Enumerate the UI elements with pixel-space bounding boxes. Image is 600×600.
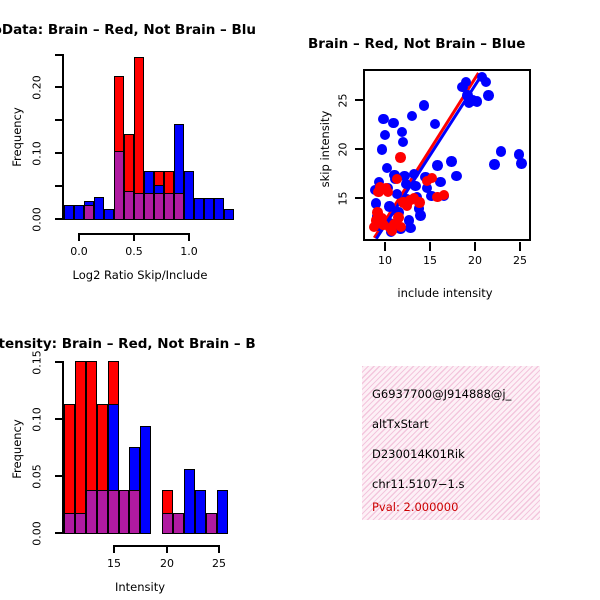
annotation-line-pval: Pval: 2.000000 (372, 500, 540, 514)
bar-not-brain (64, 205, 74, 220)
scatter-point-not-brain (419, 100, 429, 110)
scatter-point-not-brain (483, 90, 493, 100)
bar-not-brain (94, 197, 104, 220)
bar-not-brain (195, 490, 206, 534)
y-tick-label: 0.15 (31, 346, 44, 380)
scatter-ylabel: skip intensity (318, 109, 332, 189)
y-tick (55, 54, 63, 56)
bar-not-brain (184, 171, 194, 220)
bar-not-brain (204, 198, 214, 220)
y-tick-label: 0.20 (31, 71, 44, 105)
y-tick-label: 15 (337, 188, 350, 210)
annotation-line-gene-symbol: D230014K01Rik (372, 447, 540, 461)
bar-overlap (64, 513, 75, 534)
scatter-point-not-brain (380, 130, 390, 140)
x-tick (133, 233, 135, 241)
x-tick-label: 10 (372, 254, 398, 267)
scatter-title: Brain – Red, Not Brain – Blue (308, 36, 525, 52)
y-tick-label: 0.05 (31, 460, 44, 494)
y-tick (55, 86, 63, 88)
x-tick (113, 545, 115, 553)
bar-overlap (129, 490, 140, 534)
scatter-point-not-brain (472, 96, 482, 106)
x-tick (429, 242, 431, 251)
scatter-xlabel: include intensity (355, 286, 535, 300)
y-tick-label: 0.10 (31, 137, 44, 171)
y-tick (55, 152, 63, 154)
y-tick (55, 532, 63, 534)
bar-not-brain (217, 490, 228, 534)
x-tick-label: 1.0 (176, 245, 202, 258)
x-tick-label: 20 (462, 254, 488, 267)
scatter-point-not-brain (489, 159, 499, 169)
x-tick (78, 233, 80, 241)
scatter-point-not-brain (446, 156, 456, 166)
scatter-data-area (365, 71, 529, 239)
panel-scatter: Brain – Red, Not Brain – Blue skip inten… (300, 14, 600, 314)
bar-brain (75, 361, 86, 534)
bar-not-brain (104, 209, 114, 220)
scatter-point-not-brain (451, 171, 461, 181)
bar-overlap (162, 513, 173, 534)
bar-not-brain (74, 205, 84, 220)
bar-overlap (114, 151, 124, 220)
scatter-point-not-brain (430, 119, 440, 129)
ratio-histogram-bars (64, 54, 244, 220)
bar-overlap (75, 513, 86, 534)
panel-ratio-histogram: RatioData: Brain – Red, Not Brain – Blu … (0, 0, 300, 300)
scatter-point-not-brain (378, 114, 388, 124)
y-tick (355, 197, 364, 199)
x-tick-label: 25 (206, 557, 232, 570)
x-tick (519, 242, 521, 251)
ratio-histogram-ylabel: Frequency (10, 102, 24, 172)
bar-overlap (97, 490, 108, 534)
ratio-histogram-title: RatioData: Brain – Red, Not Brain – Blu (0, 22, 256, 38)
bar-overlap (134, 193, 144, 220)
bar-not-brain (214, 198, 224, 220)
intensity-histogram-xlabel: Intensity (70, 580, 210, 594)
bar-overlap (84, 205, 94, 220)
scatter-point-not-brain (496, 146, 506, 156)
x-tick (166, 545, 168, 553)
scatter-point-not-brain (481, 77, 491, 87)
y-tick-label: 20 (337, 139, 350, 161)
panel-intensity-histogram: ne Itensity: Brain – Red, Not Brain – B … (0, 314, 300, 600)
y-tick-label: 0.00 (31, 517, 44, 551)
scatter-point-not-brain (516, 158, 526, 168)
scatter-point-not-brain (397, 127, 407, 137)
scatter-point-not-brain (409, 169, 419, 179)
y-tick (55, 475, 63, 477)
bar-not-brain (194, 198, 204, 220)
y-tick (55, 218, 63, 220)
x-tick-label: 0.5 (121, 245, 147, 258)
y-tick-label: 0.00 (31, 203, 44, 237)
y-tick (355, 148, 364, 150)
bar-overlap (108, 490, 119, 534)
y-tick-label: 0.10 (31, 403, 44, 437)
bar-overlap (173, 513, 184, 534)
bar-overlap (164, 193, 174, 220)
x-tick-label: 25 (507, 254, 533, 267)
scatter-point-not-brain (410, 181, 420, 191)
bar-overlap (119, 490, 130, 534)
bar-overlap (206, 513, 217, 534)
y-tick (55, 361, 63, 363)
intensity-histogram-ylabel: Frequency (10, 414, 24, 484)
bar-not-brain (184, 469, 195, 534)
scatter-point-brain (414, 197, 424, 207)
x-tick (188, 233, 190, 241)
bar-overlap (144, 193, 154, 220)
ratio-histogram-xlabel: Log2 Ratio Skip/Include (50, 268, 230, 282)
y-tick (55, 418, 63, 420)
x-tick (474, 242, 476, 251)
y-tick-label: 25 (337, 90, 350, 112)
bar-overlap (86, 490, 97, 534)
x-tick-label: 15 (417, 254, 443, 267)
scatter-point-not-brain (398, 137, 408, 147)
x-tick-label: 15 (101, 557, 127, 570)
x-tick (384, 242, 386, 251)
scatter-point-not-brain (407, 111, 417, 121)
x-tick-label: 20 (154, 557, 180, 570)
scatter-point-not-brain (415, 210, 425, 220)
annotation-textbox: G6937700@J914888@j_ altTxStart D230014K0… (362, 366, 540, 520)
scatter-point-not-brain (405, 223, 415, 233)
intensity-histogram-bars (64, 356, 244, 534)
y-tick (55, 119, 63, 121)
scatter-point-not-brain (435, 177, 445, 187)
bar-overlap (124, 191, 134, 220)
y-tick (355, 99, 364, 101)
bar-not-brain (140, 426, 151, 534)
scatter-point-not-brain (388, 118, 398, 128)
bar-overlap (154, 193, 164, 220)
scatter-point-not-brain (377, 144, 387, 154)
annotation-line-event-type: altTxStart (372, 417, 540, 431)
bar-not-brain (224, 209, 234, 220)
annotation-line-gene-id: G6937700@J914888@j_ (372, 387, 540, 401)
scatter-point-brain (395, 152, 405, 162)
bar-overlap (174, 193, 184, 220)
y-tick (55, 185, 63, 187)
scatter-point-not-brain (432, 160, 442, 170)
annotation-line-locus: chr11.5107−1.s (372, 477, 540, 491)
x-tick (218, 545, 220, 553)
x-tick-label: 0.0 (66, 245, 92, 258)
